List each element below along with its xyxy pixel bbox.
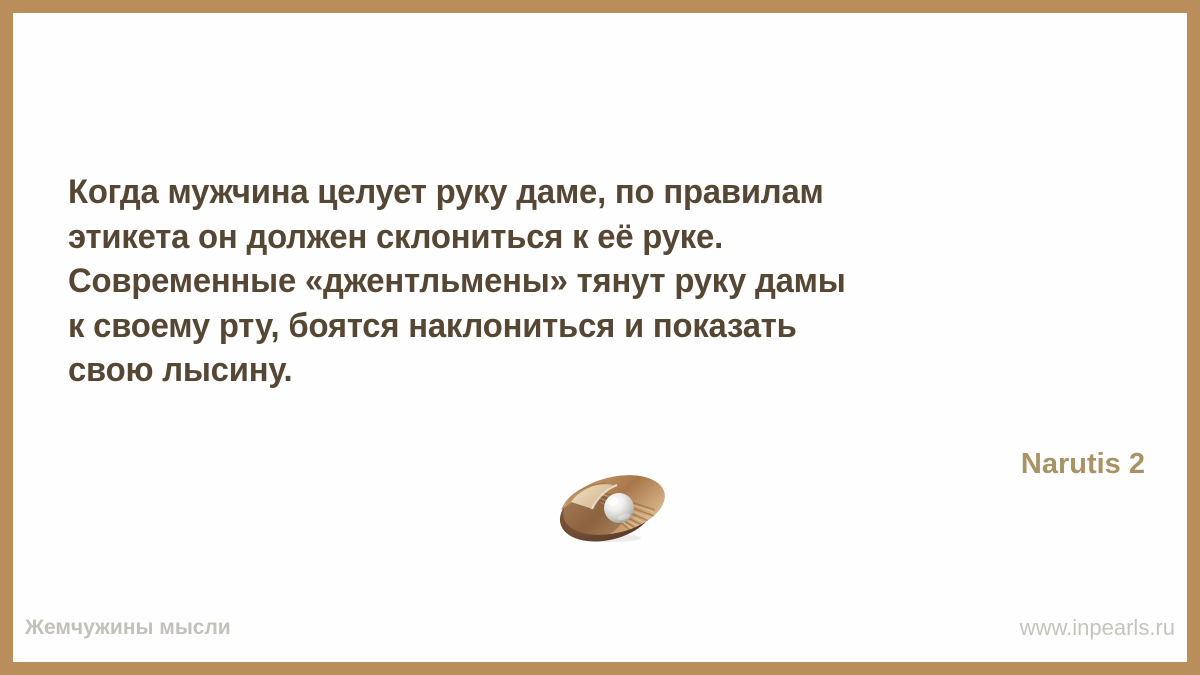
quote-card: Когда мужчина целует руку даме, по прави… xyxy=(0,0,1200,675)
author-attribution: Narutis 2 xyxy=(1021,447,1145,481)
quote-line: этикета он должен склониться к её руке. xyxy=(68,215,1120,260)
footer-site-url[interactable]: www.inpearls.ru xyxy=(1020,615,1175,641)
quote-line: к своему рту, боятся наклониться и показ… xyxy=(68,304,1120,349)
quote-line: свою лысину. xyxy=(68,348,1120,393)
footer: Жемчужины мысли www.inpearls.ru xyxy=(13,614,1187,642)
quote-line: Когда мужчина целует руку даме, по прави… xyxy=(68,170,1120,215)
quote-text: Когда мужчина целует руку даме, по прави… xyxy=(68,170,1158,393)
oyster-shell-with-pearl-icon xyxy=(551,468,675,544)
quote-line: Современные «джентльмены» тянут руку дам… xyxy=(68,259,1120,304)
footer-brand: Жемчужины мысли xyxy=(25,616,231,640)
